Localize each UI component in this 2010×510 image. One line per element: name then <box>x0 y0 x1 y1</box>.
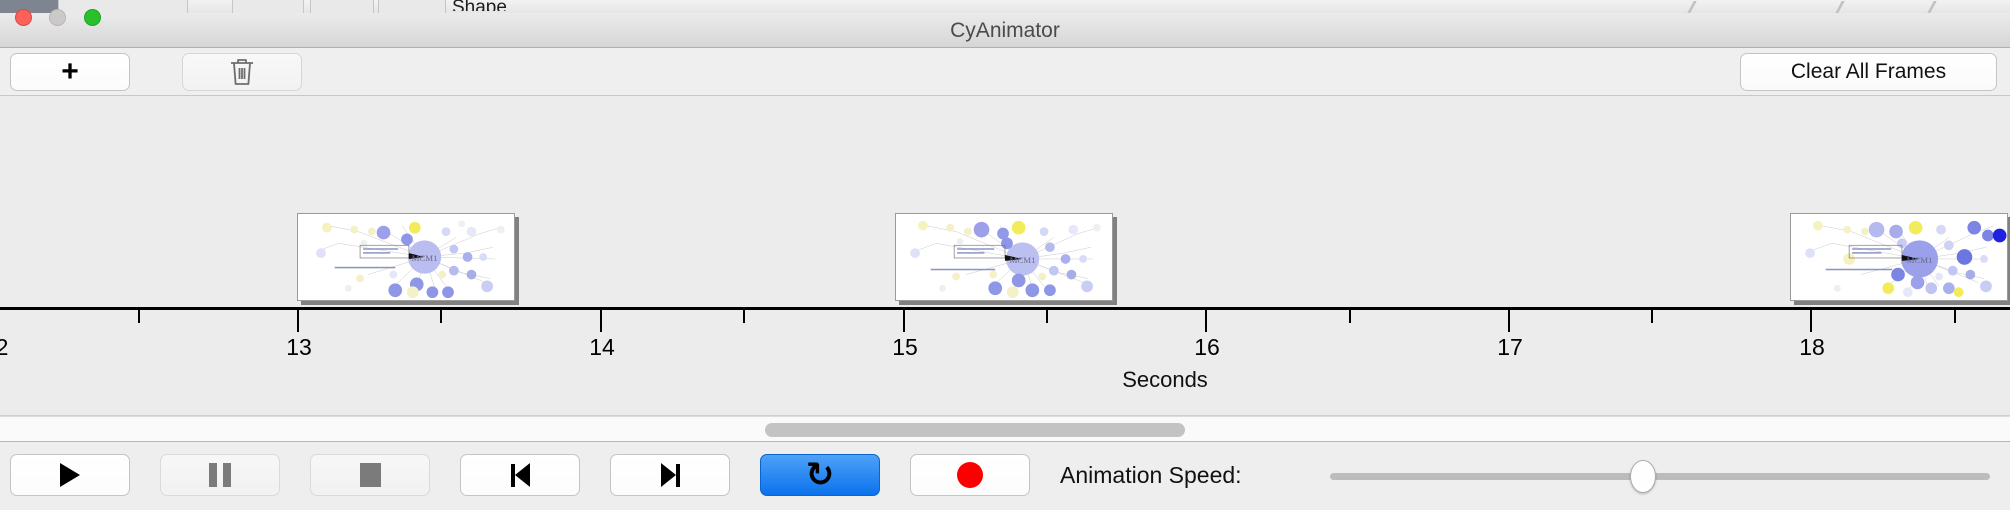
axis-tick-major <box>297 310 299 332</box>
frame-thumbnail-2[interactable]: MCM1 <box>895 213 1113 301</box>
clear-all-frames-label: Clear All Frames <box>1791 60 1946 84</box>
network-graph-thumbnail: MCM1 <box>896 214 1112 300</box>
cyanimator-window: Shape CyAnimator + Clear All Frames <box>0 0 2010 510</box>
animation-speed-slider[interactable] <box>1330 473 1990 480</box>
network-graph-thumbnail: MCM1 <box>298 214 514 300</box>
trash-icon <box>229 57 255 87</box>
axis-tick-minor <box>1349 310 1351 323</box>
axis-tick-minor <box>138 310 140 323</box>
axis-tick-minor <box>743 310 745 323</box>
bg-chip <box>310 0 374 13</box>
frame-thumbnail-3[interactable]: MCM1 <box>1790 213 2008 301</box>
axis-tick-major <box>1205 310 1207 332</box>
axis-tick-label: 2 <box>0 334 8 361</box>
play-button[interactable] <box>10 454 130 496</box>
axis-tick-minor <box>440 310 442 323</box>
axis-tick-minor <box>1954 310 1956 323</box>
record-icon <box>957 462 983 488</box>
bg-chip <box>232 0 304 13</box>
first-frame-button[interactable] <box>460 454 580 496</box>
scrollbar-thumb[interactable] <box>765 423 1185 437</box>
bg-window-label: Shape <box>452 0 507 11</box>
horizontal-scrollbar[interactable] <box>0 416 2010 442</box>
axis-tick-label: 18 <box>1799 334 1825 361</box>
pause-icon <box>209 463 231 487</box>
play-icon <box>60 463 80 487</box>
bg-chip <box>378 0 446 13</box>
record-button[interactable] <box>910 454 1030 496</box>
window-title: CyAnimator <box>0 13 2010 48</box>
stop-icon <box>360 463 381 487</box>
network-graph-thumbnail: MCM1 <box>1791 214 2007 300</box>
animation-speed-slider-thumb[interactable] <box>1630 460 1656 493</box>
axis-title-label: Seconds <box>1122 367 1208 392</box>
axis-tick-label: 13 <box>286 334 312 361</box>
pause-button[interactable] <box>160 454 280 496</box>
bg-chip <box>58 0 188 13</box>
axis-tick-minor <box>1046 310 1048 323</box>
axis-tick-major <box>600 310 602 332</box>
axis-tick-major <box>1810 310 1812 332</box>
add-frame-button[interactable]: + <box>10 53 130 91</box>
center-node-label: MCM1 <box>1010 255 1036 265</box>
axis-title: Seconds <box>0 367 2010 393</box>
loop-button[interactable]: ↻ <box>760 454 880 496</box>
skip-back-icon <box>511 463 530 487</box>
toolbar: + Clear All Frames <box>0 48 2010 96</box>
delete-frame-button[interactable] <box>182 53 302 91</box>
loop-icon: ↻ <box>806 458 835 492</box>
axis-tick-label: 14 <box>589 334 615 361</box>
clear-all-frames-button[interactable]: Clear All Frames <box>1740 53 1997 91</box>
plus-icon: + <box>61 57 79 87</box>
axis-tick-label: 16 <box>1194 334 1220 361</box>
playback-controls: ↻ Animation Speed: <box>0 442 2010 510</box>
center-node-label: MCM1 <box>412 253 438 263</box>
axis-tick-major <box>903 310 905 332</box>
animation-speed-label: Animation Speed: <box>1060 454 1242 496</box>
background-window-strip: Shape <box>0 0 2010 14</box>
timeline-axis <box>0 307 2010 310</box>
center-node-label: MCM1 <box>1907 255 1933 265</box>
axis-tick-label: 17 <box>1497 334 1523 361</box>
stop-button[interactable] <box>310 454 430 496</box>
last-frame-button[interactable] <box>610 454 730 496</box>
axis-tick-minor <box>1651 310 1653 323</box>
frame-thumbnail-1[interactable]: MCM1 <box>297 213 515 301</box>
timeline-panel[interactable]: MCM1 <box>0 96 2010 416</box>
skip-forward-icon <box>661 463 680 487</box>
axis-tick-major <box>1508 310 1510 332</box>
axis-tick-label: 15 <box>892 334 918 361</box>
